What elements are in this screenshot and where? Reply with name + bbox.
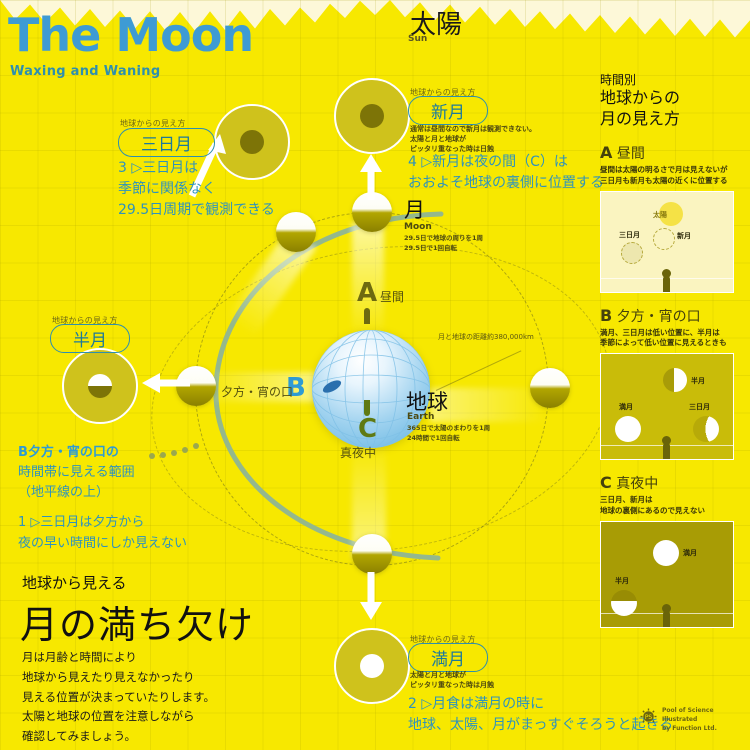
sidebar-section-a-head: A 昼間 xyxy=(600,143,740,163)
full-moon-name-pill: 満月 xyxy=(408,643,488,672)
new-moon-note: 通常は昼間なので新月は観測できない。 太陽と月と地球が ピッタリ重なった時は日蝕 xyxy=(410,124,536,154)
sidebar-section-b-heading: 夕方・宵の口 xyxy=(617,309,701,325)
sidebar-section-c-letter: C xyxy=(600,473,612,492)
earth-title-en: Earth xyxy=(407,412,434,422)
marker-c-letter: C xyxy=(358,414,377,444)
dotted-connector xyxy=(148,440,208,462)
bottom-title: 月の満ち欠け xyxy=(20,594,254,649)
scene-a-new-moon-icon xyxy=(653,228,675,250)
arrow-to-new-moon xyxy=(356,152,386,202)
credit-line-2: Illustrated xyxy=(662,715,717,724)
scene-a-crescent-label: 三日月 xyxy=(619,230,640,240)
scene-b-half-moon-label: 半月 xyxy=(691,376,705,386)
phase-disc-new-moon xyxy=(334,78,410,154)
sidebar: 時間別 地球からの 月の見え方 A 昼間 昼間は太陽の明るさで月は見えないが 三… xyxy=(600,72,740,628)
crescent-name-pill: 三日月 xyxy=(118,128,215,157)
sidebar-section-a-letter: A xyxy=(600,143,612,162)
sidebar-scene-a: 太陽 新月 三日月 xyxy=(600,191,734,293)
observer-icon-a xyxy=(364,308,370,324)
credit-block: Pool of Science Illustrated by Function … xyxy=(662,706,717,733)
sidebar-section-c-heading: 真夜中 xyxy=(616,476,658,492)
sidebar-section-c-note: 三日月、新月は 地球の裏側にあるので見えない xyxy=(600,495,740,517)
svg-text:PS: PS xyxy=(645,714,653,721)
phase-inner-crescent xyxy=(240,130,264,154)
arrow-to-half-moon xyxy=(140,368,192,398)
phase-inner-new-moon xyxy=(360,104,384,128)
full-moon-name: 満月 xyxy=(408,643,488,672)
arrow-to-full-moon xyxy=(356,570,386,622)
sun-label-en: Sun xyxy=(408,34,427,44)
scene-c-full-moon-label: 満月 xyxy=(683,548,697,558)
scene-c-half-moon-label: 半月 xyxy=(615,576,629,586)
sidebar-section-b-note: 満月、三日月は低い位置に、半月は 季節によって低い位置に見えるときも xyxy=(600,328,740,350)
scene-a-sun-label: 太陽 xyxy=(653,210,667,220)
sidebar-section-a-note: 昼間は太陽の明るさで月は見えないが 三日月も新月も太陽の近くに位置する xyxy=(600,165,740,187)
half-moon-name: 半月 xyxy=(50,324,130,353)
scene-b-crescent-label: 三日月 xyxy=(689,402,710,412)
b-range-line2: 時間帯に見える範囲 xyxy=(18,463,187,483)
distance-label: 月と地球の距離約380,000km xyxy=(438,332,534,342)
sidebar-scene-c: 満月 半月 xyxy=(600,521,734,628)
phase-disc-full-moon xyxy=(334,628,410,704)
moon-title-ja: 月 xyxy=(404,194,425,224)
infographic-canvas: The Moon Waxing and Waning 太陽 Sun A xyxy=(0,0,750,750)
scene-b-crescent-icon xyxy=(693,416,719,442)
logo-icon: PS xyxy=(640,708,657,725)
new-moon-name-pill: 新月 xyxy=(408,96,488,125)
phase-inner-full-moon xyxy=(360,654,384,678)
sidebar-section-c-head: C 真夜中 xyxy=(600,473,740,493)
moon-ball-right xyxy=(530,368,570,408)
sidebar-section-b-head: B 夕方・宵の口 xyxy=(600,306,740,326)
phase-disc-half-moon xyxy=(62,348,138,424)
credit-line-1: Pool of Science xyxy=(662,706,717,715)
b-range-line3: （地平線の上） xyxy=(18,483,187,503)
half-moon-name-pill: 半月 xyxy=(50,324,130,353)
sidebar-section-b-letter: B xyxy=(600,306,612,325)
moon-note: 29.5日で地球の周りを1周 29.5日で1回自転 xyxy=(404,234,483,254)
sidebar-kicker: 時間別 xyxy=(600,72,740,88)
earth-note: 365日で太陽のまわりを1周 24時間で1回自転 xyxy=(407,424,490,444)
scene-c-full-moon-icon xyxy=(653,540,679,566)
b-range-step: 1 ▷三日月は夕方から 夜の早い時間にしか見えない xyxy=(18,513,187,553)
bottom-body: 月は月齢と時間により 地球から見えたり見えなかったり 見える位置が決まっていたり… xyxy=(22,648,215,747)
new-moon-name: 新月 xyxy=(408,96,488,125)
full-moon-step: 2 ▷月食は満月の時に 地球、太陽、月がまっすぐそろうと起きる xyxy=(408,694,673,736)
moon-ball-upper-left xyxy=(276,212,316,252)
moon-ball-bottom xyxy=(352,534,392,574)
sidebar-section-a-heading: 昼間 xyxy=(617,146,645,162)
credit-line-3: by Function Ltd. xyxy=(662,724,717,733)
moon-title-en: Moon xyxy=(404,222,432,232)
scene-b-observer-icon xyxy=(663,443,670,459)
scene-b-full-moon-label: 満月 xyxy=(619,402,633,412)
phase-inner-half-moon xyxy=(88,374,112,398)
bottom-kicker: 地球から見える xyxy=(22,572,127,593)
scene-b-half-moon-icon xyxy=(663,368,687,392)
scene-a-new-moon-label: 新月 xyxy=(677,231,691,241)
new-moon-step: 4 ▷新月は夜の間（C）は おおよそ地球の裏側に位置する xyxy=(408,152,604,194)
marker-b-label: 夕方・宵の口 xyxy=(221,383,293,400)
scene-a-observer-icon xyxy=(663,276,670,292)
full-moon-note: 太陽と月と地球が ピッタリ重なった時は月蝕 xyxy=(410,670,494,690)
scene-b-full-moon-icon xyxy=(615,416,641,442)
marker-a-letter: A xyxy=(357,278,377,308)
page-title: The Moon xyxy=(8,12,253,58)
marker-a-label: 昼間 xyxy=(380,288,404,305)
b-range-line1: B夕方・宵の口の xyxy=(18,445,119,460)
sidebar-scene-b: 半月 満月 三日月 xyxy=(600,353,734,460)
page-subtitle: Waxing and Waning xyxy=(10,64,160,79)
crescent-name: 三日月 xyxy=(118,128,215,157)
scene-a-crescent-icon xyxy=(621,242,643,264)
marker-c-label: 真夜中 xyxy=(340,444,376,461)
observer-icon-c xyxy=(364,400,370,416)
scene-c-observer-icon xyxy=(663,611,670,627)
sidebar-title: 地球からの 月の見え方 xyxy=(600,88,740,130)
crescent-step: 3 ▷三日月は 季節に関係なく 29.5日周期で観測できる xyxy=(118,158,275,221)
